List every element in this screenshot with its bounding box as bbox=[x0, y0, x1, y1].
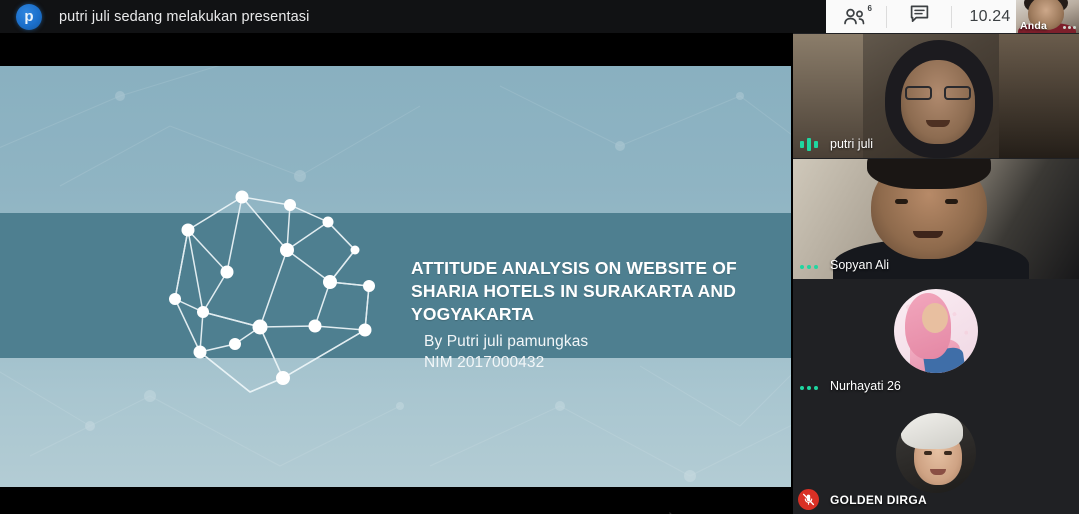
avatar-cap bbox=[901, 413, 963, 449]
audio-level-dots-icon bbox=[800, 386, 818, 390]
participant-glasses bbox=[905, 86, 971, 100]
self-view-tile[interactable]: Anda bbox=[1016, 0, 1079, 33]
participant-name: putri juli bbox=[830, 137, 873, 151]
participant-tile-nurhayati-26[interactable]: Nurhayati 26 bbox=[793, 280, 1079, 400]
meeting-window: p putri juli sedang melakukan presentasi… bbox=[0, 0, 1079, 514]
participant-name: Sopyan Ali bbox=[830, 258, 889, 272]
participant-mouth bbox=[926, 120, 950, 127]
presentation-stage[interactable]: ATTITUDE ANALYSIS ON WEBSITE OF SHARIA H… bbox=[0, 33, 793, 514]
avatar-eye-right bbox=[944, 451, 952, 455]
participant-count-badge: 6 bbox=[868, 5, 872, 13]
video-background-right bbox=[999, 34, 1079, 158]
participant-name: Nurhayati 26 bbox=[830, 379, 901, 393]
self-view-label: Anda bbox=[1020, 20, 1047, 32]
avatar bbox=[896, 413, 976, 493]
network-node-graph bbox=[155, 184, 405, 409]
participant-mouth bbox=[913, 231, 943, 238]
slide-title: ATTITUDE ANALYSIS ON WEBSITE OF SHARIA H… bbox=[411, 257, 741, 326]
participant-eye-left bbox=[895, 199, 908, 204]
meeting-controls-strip: 6 10.24 bbox=[826, 0, 1029, 33]
participant-eye-right bbox=[945, 199, 958, 204]
microphone-muted-icon bbox=[798, 489, 819, 510]
participant-tile-sopyan-ali[interactable]: Sopyan Ali bbox=[793, 159, 1079, 279]
participant-name: GOLDEN DIRGA bbox=[830, 493, 927, 507]
audio-level-dots-icon bbox=[800, 265, 818, 269]
top-bar: p putri juli sedang melakukan presentasi… bbox=[0, 0, 1079, 33]
avatar-eye-left bbox=[924, 451, 932, 455]
chat-button[interactable] bbox=[887, 0, 951, 33]
participants-button[interactable]: 6 bbox=[826, 0, 886, 33]
avatar-face bbox=[922, 303, 948, 333]
participants-sidebar: putri juli Sopyan Ali bbox=[793, 33, 1079, 514]
people-icon: 6 bbox=[843, 8, 869, 26]
participant-tile-putri-juli[interactable]: putri juli bbox=[793, 34, 1079, 158]
slide-canvas: ATTITUDE ANALYSIS ON WEBSITE OF SHARIA H… bbox=[0, 66, 791, 487]
slide-subtitle: By Putri juli pamungkas NIM 2017000432 bbox=[424, 332, 754, 373]
avatar bbox=[894, 289, 978, 373]
chat-icon bbox=[910, 5, 929, 28]
presenter-avatar: p bbox=[16, 4, 42, 30]
more-options-icon[interactable] bbox=[1063, 26, 1076, 29]
presenter-status-text: putri juli sedang melakukan presentasi bbox=[59, 9, 309, 25]
participant-face bbox=[901, 60, 975, 144]
audio-level-bars-icon bbox=[800, 138, 822, 151]
participant-tile-golden-dirga[interactable]: Activate Windows Go to Settings to activ… bbox=[793, 401, 1079, 514]
presenter-status-chip: p putri juli sedang melakukan presentasi bbox=[16, 3, 309, 31]
